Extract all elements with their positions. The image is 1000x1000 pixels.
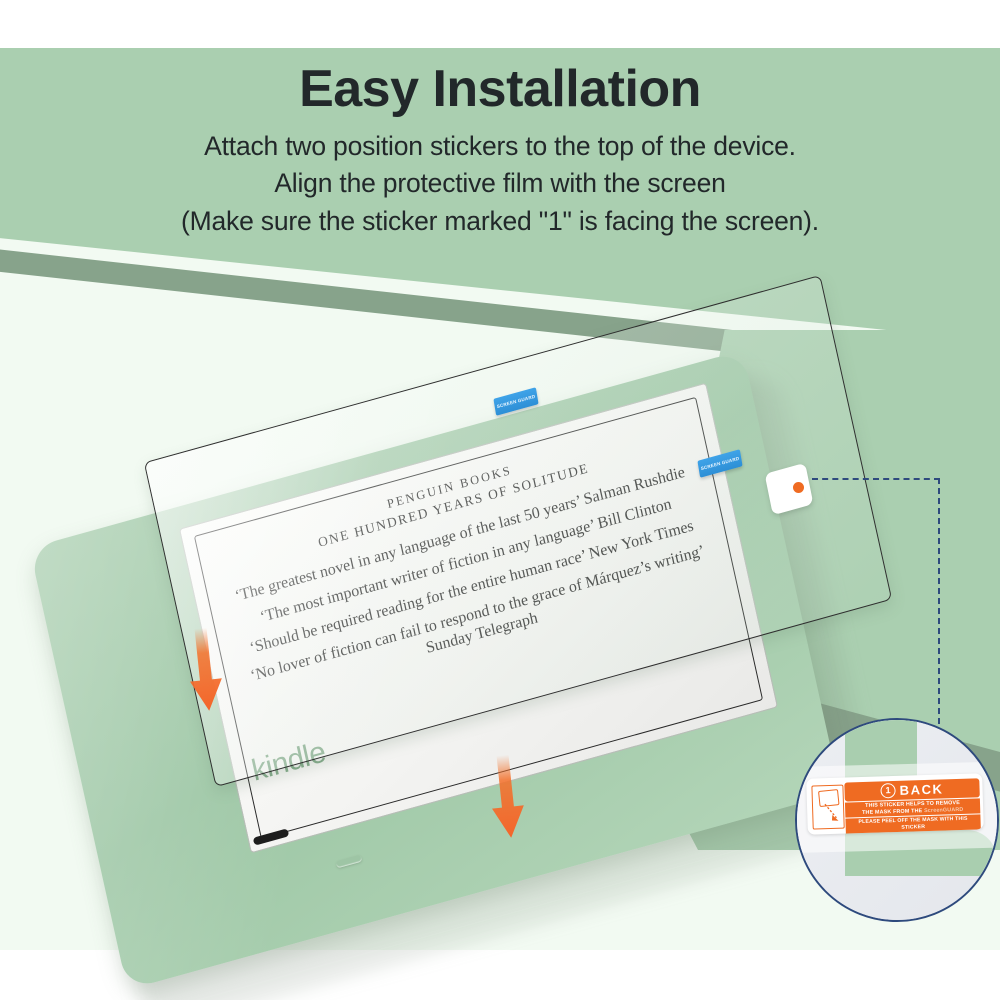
callout-leader-vertical	[938, 478, 940, 734]
header-block: Easy Installation Attach two position st…	[0, 60, 1000, 241]
sticker-back-label: BACK	[899, 781, 943, 797]
detail-inset-circle: 1 BACK THIS STICKER HELPS TO REMOVE THE …	[795, 718, 999, 922]
peel-instruction-icon	[811, 785, 844, 830]
callout-leader-horizontal	[812, 478, 940, 480]
sticker-line-2b: ScreenGUARD	[924, 807, 964, 814]
instruction-line-3: (Make sure the sticker marked "1" is fac…	[0, 203, 1000, 241]
product-instruction-graphic: Easy Installation Attach two position st…	[0, 0, 1000, 1000]
back-sticker[interactable]: 1 BACK THIS STICKER HELPS TO REMOVE THE …	[806, 773, 984, 835]
instruction-line-1: Attach two position stickers to the top …	[0, 128, 1000, 166]
sticker-text-block: 1 BACK THIS STICKER HELPS TO REMOVE THE …	[844, 778, 981, 834]
sticker-number-badge: 1	[880, 783, 895, 798]
kindle-device: PENGUIN BOOKS ONE HUNDRED YEARS OF SOLIT…	[55, 390, 875, 950]
page-title: Easy Installation	[0, 60, 1000, 120]
instruction-line-2: Align the protective film with the scree…	[0, 165, 1000, 203]
orange-dot-marker	[793, 482, 804, 493]
sticker-line-2: THE MASK FROM THE	[862, 808, 924, 816]
